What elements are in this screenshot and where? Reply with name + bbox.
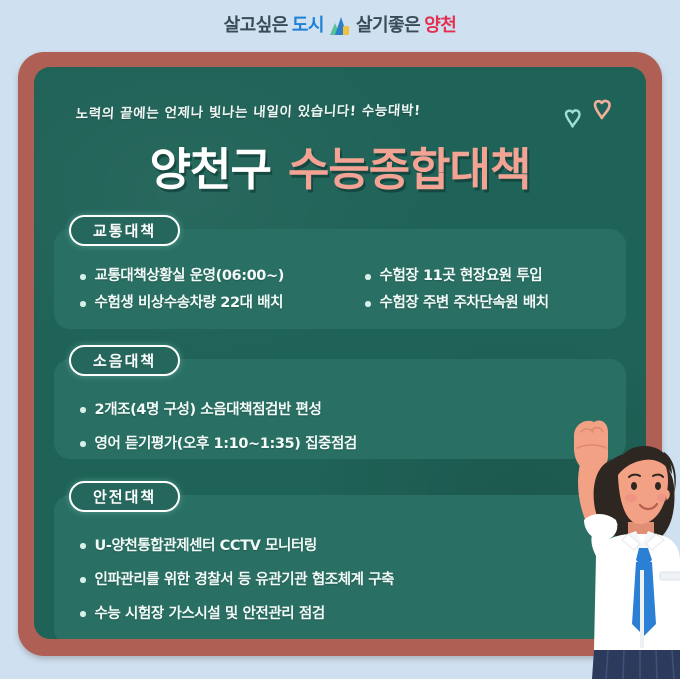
list-item-label: 수능 시험장 가스시설 및 안전관리 점검	[95, 597, 325, 631]
list-item: 수험장 주변 주차단속원 배치	[365, 290, 612, 317]
section-badge-noise: 소음대책	[69, 345, 180, 376]
bullet-dot-icon	[80, 407, 86, 413]
list-item-label: 수험생 비상수송차량 22대 배치	[95, 290, 284, 317]
bullet-dot-icon	[365, 274, 371, 280]
header-logo: 살고싶은 도시 살기좋은 양천	[0, 0, 680, 52]
list-item: 수능 시험장 가스시설 및 안전관리 점검	[80, 597, 612, 631]
chalkboard-frame: 노력의 끝에는 언제나 빛나는 내일이 있습니다! 수능대박! 양천구 수능종합…	[18, 52, 662, 656]
list-item-label: U-양천통합관제센터 CCTV 모니터링	[95, 529, 317, 563]
list-item-label: 영어 듣기평가(오후 1:10~1:35) 집중점검	[95, 427, 357, 461]
section-badge-safety: 안전대책	[69, 481, 180, 512]
bullet-dot-icon	[80, 274, 86, 280]
tagline: 노력의 끝에는 언제나 빛나는 내일이 있습니다! 수능대박!	[75, 98, 526, 123]
logo-text-part2: 도시	[292, 17, 324, 35]
list-item: U-양천통합관제센터 CCTV 모니터링	[80, 529, 612, 563]
page-title-part2: 수능종합대책	[288, 143, 530, 196]
bullet-dot-icon	[365, 301, 371, 307]
list-item-label: 수험장 11곳 현장요원 투입	[380, 263, 543, 290]
list-item: 교통대책상황실 운영(06:00~)	[80, 263, 365, 290]
list-item-label: 2개조(4명 구성) 소음대책점검반 편성	[95, 393, 322, 427]
bullet-list-noise: 2개조(4명 구성) 소음대책점검반 편성 영어 듣기평가(오후 1:10~1:…	[80, 393, 612, 461]
chalkboard-surface: 노력의 끝에는 언제나 빛나는 내일이 있습니다! 수능대박! 양천구 수능종합…	[34, 67, 646, 639]
logo-text-part4: 양천	[424, 17, 456, 35]
list-item: 영어 듣기평가(오후 1:10~1:35) 집중점검	[80, 427, 612, 461]
city-buildings-icon	[330, 16, 350, 36]
page-title-part1: 양천구	[150, 143, 271, 196]
bullet-dot-icon	[80, 441, 86, 447]
list-item: 인파관리를 위한 경찰서 등 유관기관 협조체계 구축	[80, 563, 612, 597]
list-item: 수험생 비상수송차량 22대 배치	[80, 290, 365, 317]
logo-text-part1: 살고싶은	[224, 17, 288, 35]
section-safety: 안전대책 U-양천통합관제센터 CCTV 모니터링 인파관리를 위한 경찰서 등…	[54, 495, 626, 639]
heart-outline-mint-icon	[562, 105, 588, 131]
section-traffic: 교통대책 교통대책상황실 운영(06:00~) 수험장 11곳 현장요원 투입 …	[54, 229, 626, 329]
list-item: 수험장 11곳 현장요원 투입	[365, 263, 612, 290]
poster-root: 살고싶은 도시 살기좋은 양천 노력의 끝에는 언제나 빛나는 내일이 있습니다…	[0, 0, 680, 679]
bullet-list-traffic: 교통대책상황실 운영(06:00~) 수험장 11곳 현장요원 투입 수험생 비…	[80, 263, 612, 317]
section-badge-traffic: 교통대책	[69, 215, 180, 246]
bullet-dot-icon	[80, 577, 86, 583]
bullet-dot-icon	[80, 301, 86, 307]
list-item-label: 인파관리를 위한 경찰서 등 유관기관 협조체계 구축	[95, 563, 395, 597]
bullet-list-safety: U-양천통합관제센터 CCTV 모니터링 인파관리를 위한 경찰서 등 유관기관…	[80, 529, 612, 631]
heart-outline-peach-icon	[590, 95, 618, 123]
section-noise: 소음대책 2개조(4명 구성) 소음대책점검반 편성 영어 듣기평가(오후 1:…	[54, 359, 626, 459]
bullet-dot-icon	[80, 611, 86, 617]
list-item-label: 수험장 주변 주차단속원 배치	[380, 290, 549, 317]
logo-text-part3: 살기좋은	[356, 17, 420, 35]
list-item-label: 교통대책상황실 운영(06:00~)	[95, 263, 284, 290]
page-title: 양천구 수능종합대책	[34, 133, 646, 198]
bullet-dot-icon	[80, 543, 86, 549]
list-item: 2개조(4명 구성) 소음대책점검반 편성	[80, 393, 612, 427]
